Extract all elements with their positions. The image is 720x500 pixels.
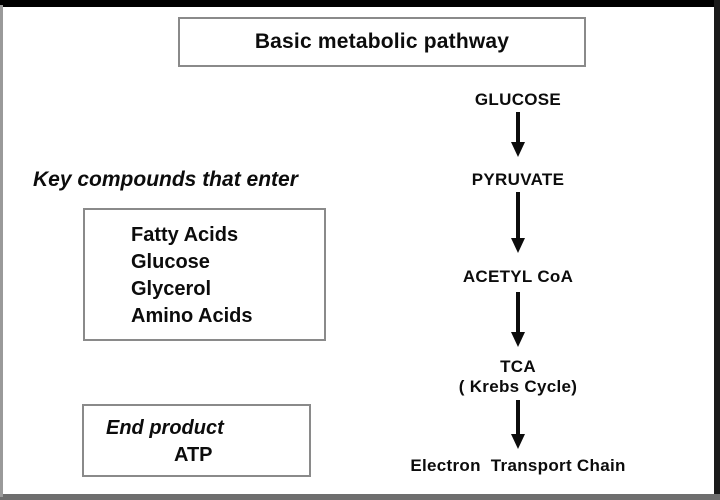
pathway-step-pyruvate: PYRUVATE: [368, 170, 668, 190]
down-arrow-icon: [504, 400, 532, 450]
frame-border-right: [714, 0, 720, 494]
list-item: Amino Acids: [131, 303, 253, 330]
pathway-step-glucose: GLUCOSE: [368, 90, 668, 110]
end-product-label: End product: [106, 417, 224, 440]
list-item: Glucose: [131, 249, 253, 276]
list-item: Fatty Acids: [131, 222, 253, 249]
diagram-canvas: Basic metabolic pathway Key compounds th…: [0, 0, 720, 500]
key-compounds-list: Fatty Acids Glucose Glycerol Amino Acids: [131, 222, 253, 330]
key-compounds-heading: Key compounds that enter: [33, 168, 298, 192]
pathway-step-electron-transport-chain: Electron Transport Chain: [368, 456, 668, 476]
key-compounds-box: Fatty Acids Glucose Glycerol Amino Acids: [83, 208, 326, 341]
down-arrow-icon: [504, 292, 532, 348]
frame-border-left: [0, 5, 3, 497]
end-product-value: ATP: [174, 444, 213, 467]
diagram-title: Basic metabolic pathway: [180, 30, 584, 54]
pathway-step-krebs-cycle: ( Krebs Cycle): [368, 377, 668, 397]
list-item: Glycerol: [131, 276, 253, 303]
pathway-step-acetyl-coa: ACETYL CoA: [368, 267, 668, 287]
frame-border-top: [0, 0, 720, 7]
frame-border-bottom: [0, 494, 720, 500]
end-product-box: End product ATP: [82, 404, 311, 477]
down-arrow-icon: [504, 192, 532, 254]
pathway-step-tca: TCA: [368, 357, 668, 377]
down-arrow-icon: [504, 112, 532, 158]
title-box: Basic metabolic pathway: [178, 17, 586, 67]
